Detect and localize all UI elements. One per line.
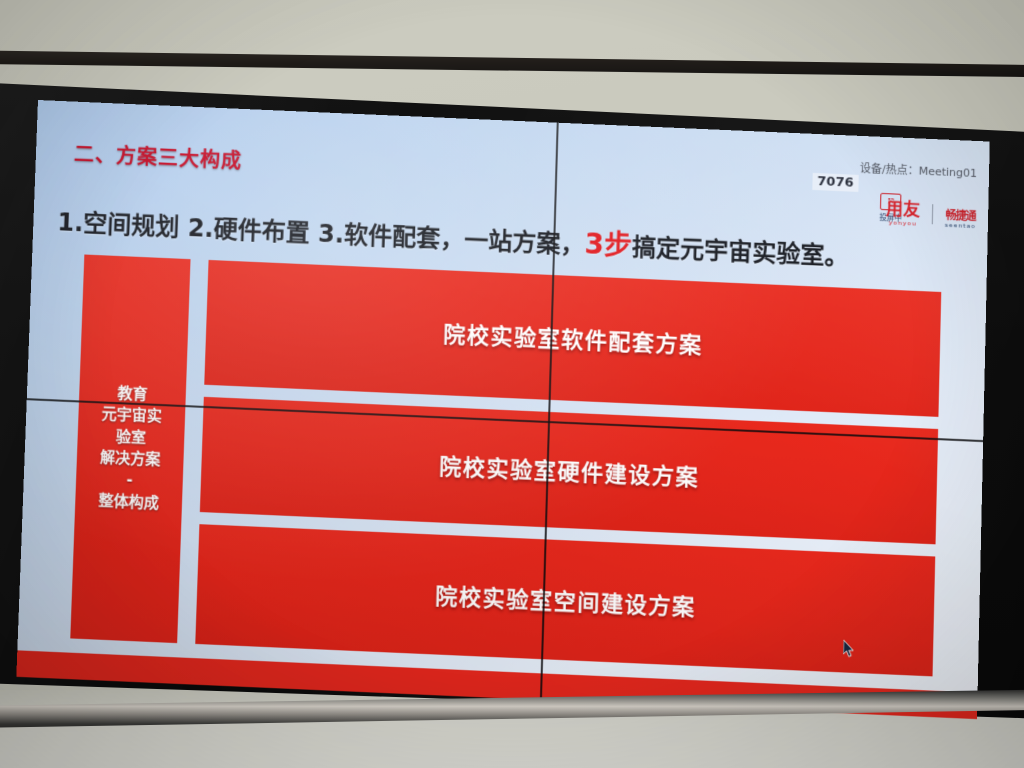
slide-subtitle-part-3: 搞定元宇宙实验室。 bbox=[632, 233, 849, 271]
mouse-cursor bbox=[843, 640, 856, 659]
three-part-diagram: 教育 元宇宙实 验室 解决方案 - 整体构成 院校实验室软件配套方案 院校实验室… bbox=[70, 255, 941, 677]
logo-yonyou: 用友 yonyou bbox=[886, 201, 921, 228]
logo-yonyou-mark: 用友 bbox=[886, 201, 920, 220]
diagram-bar-label: 院校实验室空间建设方案 bbox=[435, 578, 696, 622]
diagram-left-panel: 教育 元宇宙实 验室 解决方案 - 整体构成 bbox=[70, 255, 190, 644]
diagram-bar-label: 院校实验室软件配套方案 bbox=[443, 317, 703, 361]
screen-surface: 二、方案三大构成 1.空间规划 2.硬件布置 3.软件配套，一站方案，3步搞定元… bbox=[16, 100, 990, 727]
slide-subtitle-part-1: 1.空间规划 2.硬件布置 3.软件配套，一站方案， bbox=[57, 208, 585, 259]
monitor-top-bezel-edge bbox=[0, 45, 1024, 77]
cast-connection-code: 7076 bbox=[812, 173, 859, 192]
room-background: 二、方案三大构成 1.空间规划 2.硬件布置 3.软件配套，一站方案，3步搞定元… bbox=[0, 0, 1024, 768]
logo-seentao-subtext: seentao bbox=[945, 223, 976, 230]
diagram-bar-label: 院校实验室硬件建设方案 bbox=[439, 449, 700, 493]
diagram-bar-space: 院校实验室空间建设方案 bbox=[195, 524, 935, 676]
logo-divider bbox=[932, 204, 933, 224]
presentation-slide: 二、方案三大构成 1.空间规划 2.硬件布置 3.软件配套，一站方案，3步搞定元… bbox=[16, 100, 989, 719]
slide-title: 二、方案三大构成 bbox=[74, 138, 243, 174]
cast-device-hotspot-label: 设备/热点：Meeting01 bbox=[860, 160, 978, 181]
brand-logo-row: 用友 yonyou 畅捷通 seentao bbox=[886, 201, 977, 230]
logo-yonyou-subtext: yonyou bbox=[889, 220, 917, 227]
logo-seentao: 畅捷通 seentao bbox=[945, 210, 976, 230]
diagram-bar-hardware: 院校实验室硬件建设方案 bbox=[200, 397, 938, 545]
screen-cast-overlay: 设备/热点：Meeting01 7076 ⤧ 投屏中 用友 yonyou 畅捷 bbox=[785, 157, 977, 243]
diagram-bar-software: 院校实验室软件配套方案 bbox=[204, 260, 941, 417]
slide-subtitle-highlight: 3步 bbox=[584, 227, 633, 262]
logo-seentao-mark: 畅捷通 bbox=[945, 210, 975, 222]
